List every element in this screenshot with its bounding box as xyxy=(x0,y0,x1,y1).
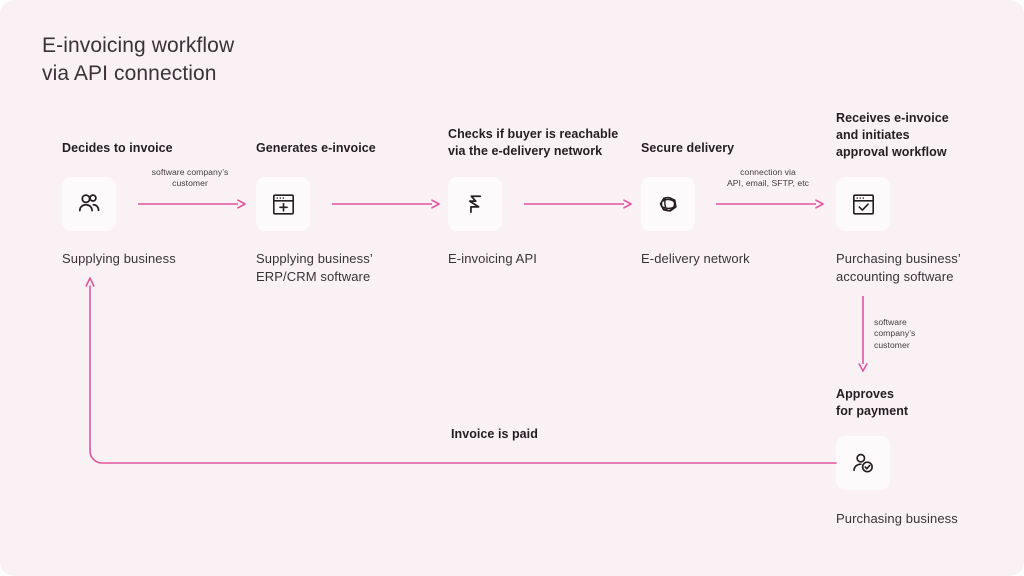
browser-check-icon xyxy=(850,191,877,218)
node-heading: Receives e-invoice and initiates approva… xyxy=(836,110,1016,161)
node-caption: E-delivery network xyxy=(641,250,831,268)
node-caption: Purchasing business xyxy=(836,510,1024,528)
api-zigzag-icon-tile xyxy=(448,177,502,231)
connector-4-label: connection via API, email, SFTP, etc xyxy=(713,167,823,190)
network-node-icon-tile xyxy=(641,177,695,231)
node-caption: E-invoicing API xyxy=(448,250,638,268)
network-node-icon xyxy=(654,190,682,218)
connector-return-path xyxy=(82,272,862,477)
page-title: E-invoicing workflow via API connection xyxy=(42,32,234,87)
node-heading: Approves for payment xyxy=(836,386,1016,420)
connector-5-label: software company’s customer xyxy=(874,317,954,351)
browser-check-icon-tile xyxy=(836,177,890,231)
node-caption: Supplying business xyxy=(62,250,252,268)
connector-1-label: software company’s customer xyxy=(135,167,245,190)
diagram-canvas: E-invoicing workflow via API connection … xyxy=(0,0,1024,576)
users-icon-tile xyxy=(62,177,116,231)
api-zigzag-icon xyxy=(462,191,488,217)
connector-3 xyxy=(524,197,634,215)
node-heading: Decides to invoice xyxy=(62,140,262,157)
node-heading: Secure delivery xyxy=(641,140,841,157)
connector-2 xyxy=(332,197,442,215)
node-heading: Generates e-invoice xyxy=(256,140,466,157)
connector-1 xyxy=(138,197,248,215)
users-icon xyxy=(75,190,103,218)
connector-4 xyxy=(716,197,826,215)
node-heading: Checks if buyer is reachable via the e-d… xyxy=(448,126,648,160)
browser-plus-icon-tile xyxy=(256,177,310,231)
browser-plus-icon xyxy=(270,191,297,218)
node-caption: Purchasing business’ accounting software xyxy=(836,250,1016,286)
return-path-label: Invoice is paid xyxy=(451,427,538,441)
